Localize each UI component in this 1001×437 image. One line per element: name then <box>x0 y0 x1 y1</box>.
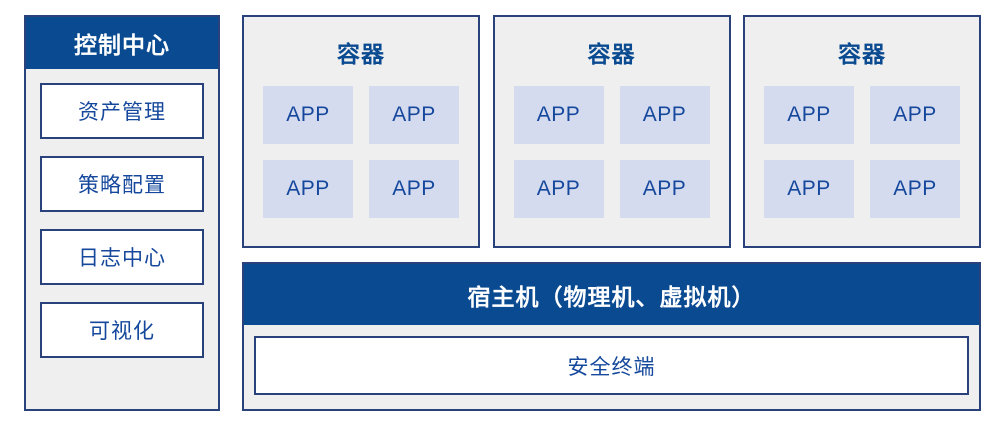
control-item-policy-configuration[interactable]: 策略配置 <box>40 156 204 212</box>
control-center-header: 控制中心 <box>26 17 218 69</box>
container-panel-1: 容器 APP APP APP APP <box>242 15 480 248</box>
app-box[interactable]: APP <box>263 160 353 218</box>
app-box[interactable]: APP <box>263 86 353 144</box>
control-item-asset-management[interactable]: 资产管理 <box>40 83 204 139</box>
app-box[interactable]: APP <box>369 86 459 144</box>
host-machine-header: 宿主机（物理机、虚拟机） <box>244 264 979 325</box>
app-box[interactable]: APP <box>870 160 960 218</box>
control-center-items: 资产管理 策略配置 日志中心 可视化 <box>26 69 218 358</box>
app-box[interactable]: APP <box>764 86 854 144</box>
app-box[interactable]: APP <box>620 86 710 144</box>
control-item-log-center[interactable]: 日志中心 <box>40 229 204 285</box>
control-item-visualization[interactable]: 可视化 <box>40 302 204 358</box>
control-center-panel: 控制中心 资产管理 策略配置 日志中心 可视化 <box>24 15 220 411</box>
host-machine-panel: 宿主机（物理机、虚拟机） 安全终端 <box>242 262 981 411</box>
container-title: 容器 <box>588 35 636 69</box>
app-box[interactable]: APP <box>514 86 604 144</box>
app-box[interactable]: APP <box>870 86 960 144</box>
security-terminal-box[interactable]: 安全终端 <box>254 336 969 395</box>
diagram-canvas: 控制中心 资产管理 策略配置 日志中心 可视化 容器 APP APP APP A… <box>0 0 1001 437</box>
app-grid: APP APP APP APP <box>263 86 459 218</box>
container-title: 容器 <box>838 35 886 69</box>
containers-row: 容器 APP APP APP APP 容器 APP APP APP APP 容器… <box>242 15 981 248</box>
app-grid: APP APP APP APP <box>514 86 710 218</box>
app-box[interactable]: APP <box>514 160 604 218</box>
container-panel-3: 容器 APP APP APP APP <box>743 15 981 248</box>
app-grid: APP APP APP APP <box>764 86 960 218</box>
container-title: 容器 <box>337 35 385 69</box>
host-machine-body: 安全终端 <box>244 325 979 405</box>
app-box[interactable]: APP <box>369 160 459 218</box>
app-box[interactable]: APP <box>620 160 710 218</box>
app-box[interactable]: APP <box>764 160 854 218</box>
container-panel-2: 容器 APP APP APP APP <box>493 15 731 248</box>
